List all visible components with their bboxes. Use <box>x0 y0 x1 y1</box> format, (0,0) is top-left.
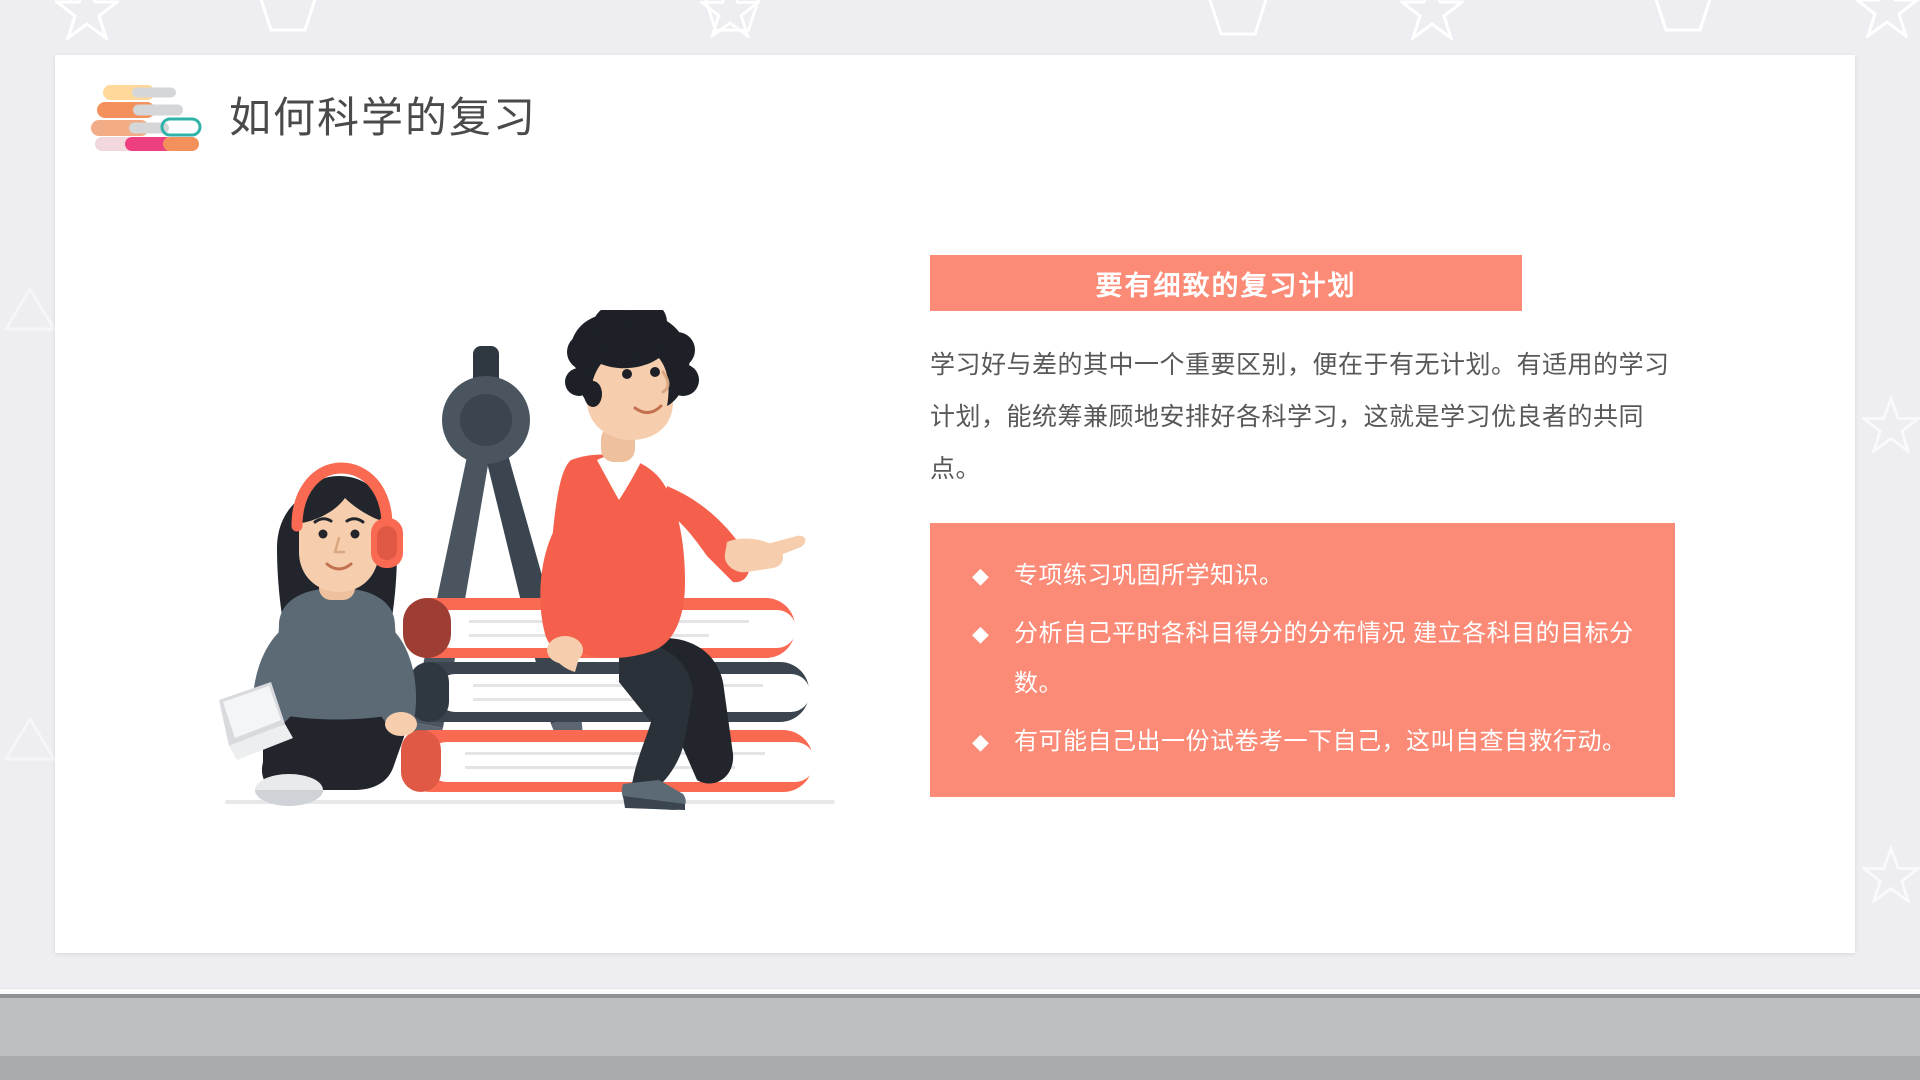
list-item: ◆ 分析自己平时各科目得分的分布情况 建立各科目的目标分数。 <box>930 609 1675 709</box>
pentagon-outline-icon <box>1650 0 1716 36</box>
pentagon-outline-icon <box>255 0 321 36</box>
section-banner-title: 要有细致的复习计划 <box>1096 264 1357 303</box>
book-middle <box>409 662 810 722</box>
triangle-outline-icon <box>4 715 56 763</box>
body-paragraph: 学习好与差的其中一个重要区别，便在于有无计划。有适用的学习计划，能统筹兼顾地安排… <box>930 339 1670 495</box>
diamond-bullet-icon: ◆ <box>972 609 1014 659</box>
slide-canvas: 如何科学的复习 <box>55 55 1855 953</box>
pentagon-outline-icon <box>1205 0 1271 40</box>
diamond-bullet-icon: ◆ <box>972 717 1014 767</box>
star-outline-icon <box>1855 0 1919 38</box>
bullet-list-box: ◆ 专项练习巩固所学知识。 ◆ 分析自己平时各科目得分的分布情况 建立各科目的目… <box>930 523 1675 797</box>
page-title: 如何科学的复习 <box>229 84 537 145</box>
list-item-label: 有可能自己出一份试卷考一下自己，这叫自查自救行动。 <box>1014 717 1627 767</box>
list-item-label: 专项练习巩固所学知识。 <box>1014 551 1284 601</box>
viewer-chrome-bottom-edge <box>0 1056 1920 1080</box>
star-outline-icon <box>1400 0 1464 40</box>
content-column: 要有细致的复习计划 学习好与差的其中一个重要区别，便在于有无计划。有适用的学习计… <box>930 255 1675 797</box>
book-bottom <box>401 730 815 792</box>
triangle-outline-icon <box>4 285 56 333</box>
list-item: ◆ 有可能自己出一份试卷考一下自己，这叫自查自救行动。 <box>930 717 1675 767</box>
slide-header: 如何科学的复习 <box>85 77 537 151</box>
star-outline-icon <box>1862 845 1920 903</box>
seated-student-figure <box>219 468 417 806</box>
pentagon-outline-icon <box>700 0 764 36</box>
book-stack-icon <box>85 77 203 151</box>
two-students-studying-on-books-illustration <box>215 310 915 850</box>
section-banner: 要有细致的复习计划 <box>930 255 1522 311</box>
diamond-bullet-icon: ◆ <box>972 551 1014 601</box>
list-item: ◆ 专项练习巩固所学知识。 <box>930 551 1675 601</box>
star-outline-icon <box>55 0 119 40</box>
viewer-chrome-toolbar <box>0 998 1920 1056</box>
star-outline-icon <box>1862 395 1920 453</box>
presentation-viewer: 如何科学的复习 <box>0 0 1920 1080</box>
list-item-label: 分析自己平时各科目得分的分布情况 建立各科目的目标分数。 <box>1014 609 1641 709</box>
star-outline-icon <box>700 0 760 38</box>
